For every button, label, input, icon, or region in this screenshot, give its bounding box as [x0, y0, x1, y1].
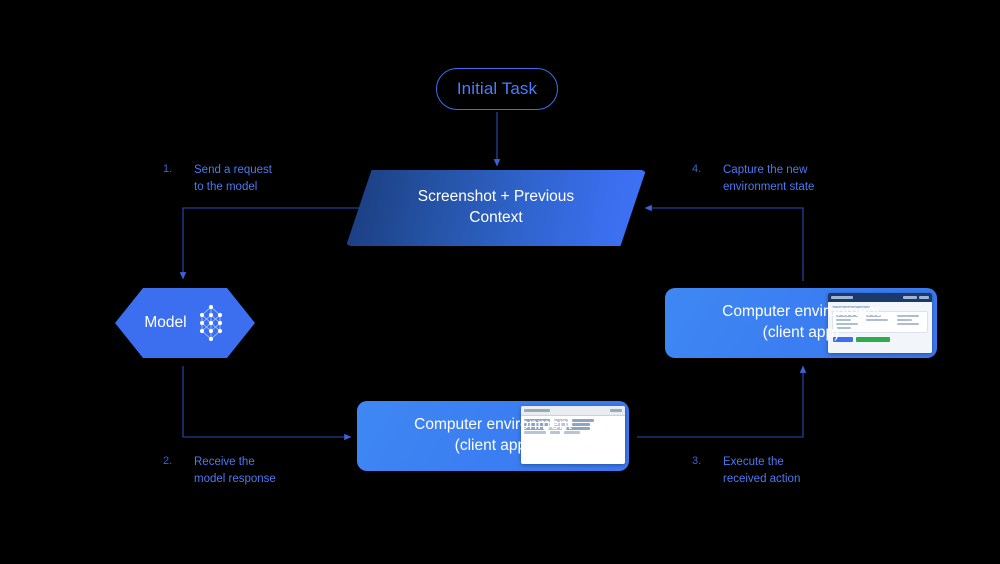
thumbnail-body — [828, 302, 932, 353]
step-label-4: 4. Capture the new environment state — [692, 162, 814, 195]
node-environment-right[interactable]: Computer environment (client app) — [665, 288, 937, 358]
hexagon-shape — [115, 288, 255, 358]
step-3-line2: received action — [723, 473, 800, 485]
step-4-text: Capture the new environment state — [723, 162, 814, 195]
step-3-number: 3. — [692, 454, 723, 487]
step-4-line1: Capture the new — [723, 164, 807, 176]
environment-bottom-line2: (client app) — [455, 436, 532, 457]
thumbnail-buttons — [832, 337, 928, 342]
node-initial-task[interactable]: Initial Task — [436, 68, 558, 110]
step-4-line2: environment state — [723, 181, 814, 193]
step-3-line1: Execute the — [723, 456, 784, 468]
step-3-text: Execute the received action — [723, 454, 800, 487]
environment-bottom-thumbnail — [521, 406, 625, 464]
step-2-number: 2. — [163, 454, 194, 487]
wire-environment-right-to-screenshot — [645, 208, 803, 281]
step-2-line2: model response — [194, 473, 276, 485]
step-label-1: 1. Send a request to the model — [163, 162, 272, 195]
step-1-line1: Send a request — [194, 164, 272, 176]
node-environment-bottom[interactable]: Computer environment (client app) — [357, 401, 629, 471]
thumbnail-titlebar — [828, 293, 932, 302]
step-label-2: 2. Receive the model response — [163, 454, 276, 487]
thumbnail-table — [521, 416, 625, 437]
step-label-3: 3. Execute the received action — [692, 454, 800, 487]
parallelogram-shape — [346, 170, 646, 246]
node-screenshot-context[interactable]: Screenshot + Previous Context — [346, 170, 646, 246]
step-2-line1: Receive the — [194, 456, 255, 468]
node-model[interactable]: Model — [115, 288, 255, 358]
step-4-number: 4. — [692, 162, 723, 195]
thumbnail-panel — [832, 311, 928, 333]
step-1-line2: to the model — [194, 181, 257, 193]
initial-task-label: Initial Task — [457, 79, 537, 99]
wire-environment-bottom-to-right — [637, 366, 803, 437]
thumbnail-titlebar — [521, 406, 625, 416]
environment-right-thumbnail — [828, 293, 932, 353]
wire-screenshot-to-model — [183, 208, 363, 279]
step-2-text: Receive the model response — [194, 454, 276, 487]
diagram-canvas: Initial Task Screenshot + Previous Conte… — [0, 0, 1000, 564]
step-1-text: Send a request to the model — [194, 162, 272, 195]
wire-model-to-environment-bottom — [183, 366, 351, 437]
step-1-number: 1. — [163, 162, 194, 195]
